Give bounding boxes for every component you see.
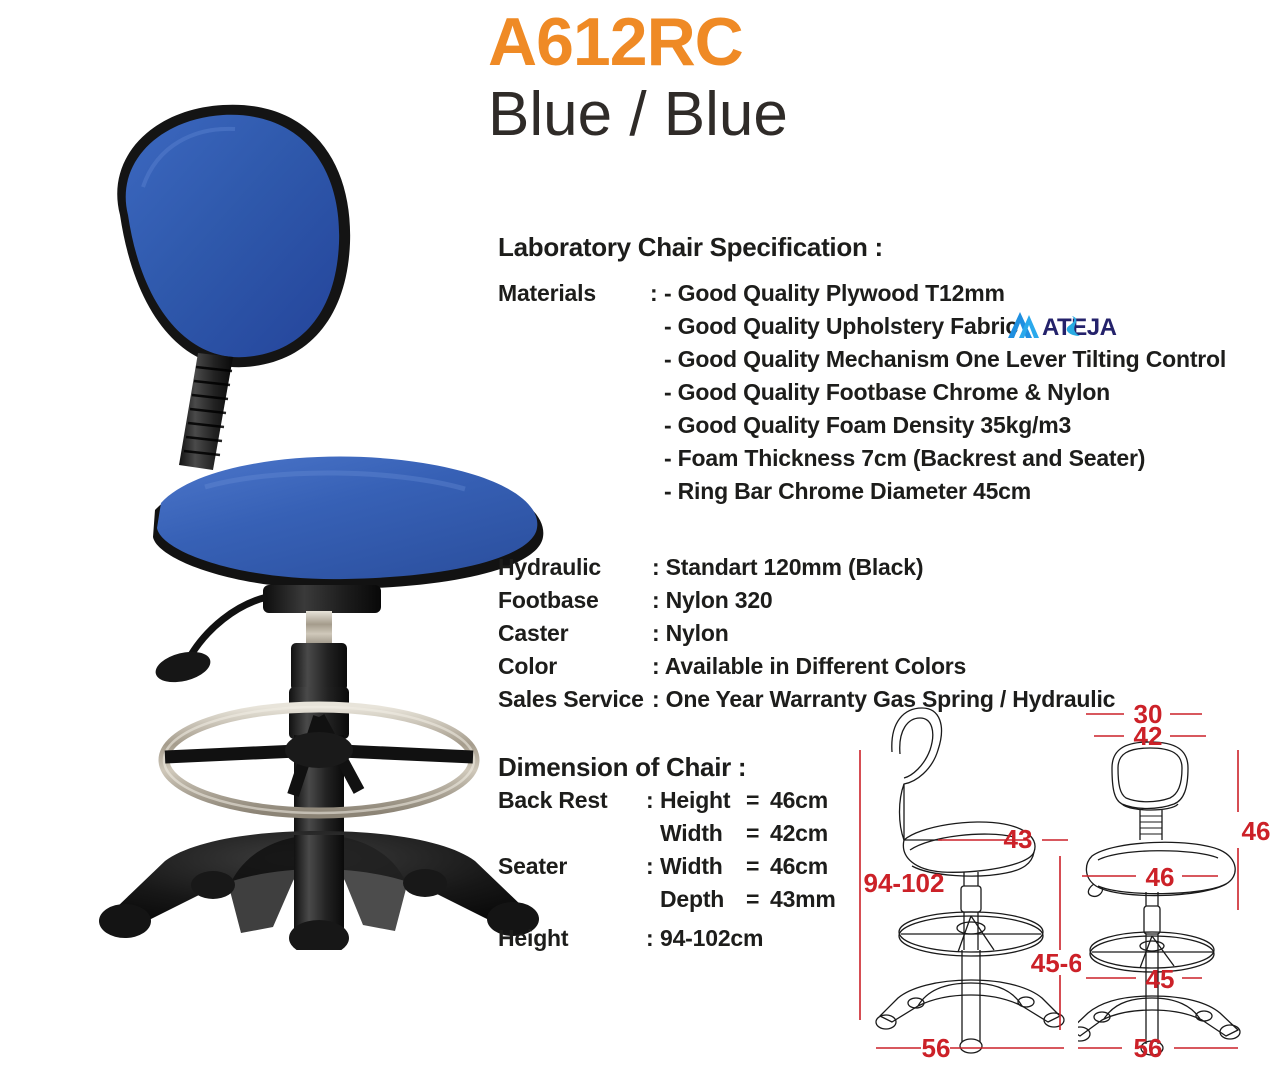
chair-photo [95, 95, 550, 950]
materials-colon: : [650, 280, 664, 307]
front-dim-backrest-width: 42 [1134, 721, 1163, 751]
material-item: - Good Quality Plywood T12mm [664, 280, 1005, 307]
side-dimension-lines [860, 750, 1068, 1048]
material-item: - Good Quality Foam Density 35kg/m3 [664, 412, 1071, 439]
chair-seat [153, 457, 543, 590]
detail-specs-section: Hydraulic: Standart 120mm (Black) Footba… [498, 551, 1115, 716]
detail-label-caster: Caster [498, 620, 652, 647]
dimension-row: Depth = 43mm [498, 883, 836, 916]
side-dim-base-width: 56 [922, 1033, 951, 1063]
front-dim-base-width: 56 [1134, 1033, 1163, 1063]
dim-value: 46cm [770, 853, 828, 880]
chair-base [99, 831, 539, 950]
dim-label: Back Rest [498, 787, 646, 814]
dim-key: Width [660, 820, 746, 847]
ateja-mark-icon [1008, 312, 1039, 338]
front-dim-seat-width: 46 [1146, 862, 1175, 892]
side-dim-seat-depth: 43 [1004, 824, 1033, 854]
detail-value-color: : Available in Different Colors [652, 653, 966, 680]
dimensions-heading: Dimension of Chair : [498, 751, 836, 784]
material-item: - Good Quality Footbase Chrome & Nylon [664, 379, 1110, 406]
material-item: - Good Quality Upholstery Fabric [664, 313, 1018, 340]
dim-value: 43mm [770, 886, 836, 913]
detail-label-footbase: Footbase [498, 587, 652, 614]
dimension-row: Seater : Width = 46cm [498, 850, 836, 883]
chair-backrest [117, 105, 350, 367]
technical-drawing-front-view: 30 42 46 46 45 56 [1078, 700, 1281, 1063]
title-block: A612RC Blue / Blue [488, 8, 1228, 147]
dimension-row: Width = 42cm [498, 817, 836, 850]
dimension-row: Back Rest : Height = 46cm [498, 784, 836, 817]
dim-colon: : [646, 787, 660, 814]
front-dim-backrest-height: 46 [1242, 816, 1271, 846]
dim-colon: : [646, 925, 660, 952]
detail-value-footbase: : Nylon 320 [652, 587, 773, 614]
product-color: Blue / Blue [488, 82, 1228, 147]
material-item: - Foam Thickness 7cm (Backrest and Seate… [664, 445, 1145, 472]
dim-key: Height [660, 787, 746, 814]
dim-value: 42cm [770, 820, 828, 847]
dimensions-section: Dimension of Chair : Back Rest : Height … [498, 751, 836, 955]
spec-heading: Laboratory Chair Specification : [498, 232, 1226, 263]
dim-label: Seater [498, 853, 646, 880]
dim-key: Width [660, 853, 746, 880]
dim-equals: = [746, 787, 770, 814]
technical-drawing-side-view: 43 94-102 45-65 56 [846, 700, 1081, 1063]
dim-value: 46cm [770, 787, 828, 814]
front-dim-ring-diameter: 45 [1146, 964, 1175, 994]
ateja-logo: ATEJA [1004, 306, 1124, 344]
dim-equals: = [746, 886, 770, 913]
ateja-wordmark: ATEJA [1042, 314, 1117, 341]
detail-label-sales-service: Sales Service [498, 686, 652, 713]
detail-label-color: Color [498, 653, 652, 680]
materials-label: Materials [498, 280, 650, 307]
backrest-stem [179, 353, 233, 470]
material-item: - Ring Bar Chrome Diameter 45cm [664, 478, 1031, 505]
dim-key: Depth [660, 886, 746, 913]
dim-equals: = [746, 853, 770, 880]
product-code: A612RC [488, 8, 1228, 76]
detail-label-hydraulic: Hydraulic [498, 554, 652, 581]
detail-value-hydraulic: : Standart 120mm (Black) [652, 554, 923, 581]
side-dim-seat-height-range: 45-65 [1031, 948, 1081, 978]
dim-label: Height [498, 925, 646, 952]
dimension-row: Height : 94-102cm [498, 922, 836, 955]
material-item: - Good Quality Mechanism One Lever Tilti… [664, 346, 1226, 373]
dim-value: 94-102cm [660, 925, 763, 952]
side-dim-total-height: 94-102 [864, 868, 945, 898]
dim-colon: : [646, 853, 660, 880]
materials-section: Laboratory Chair Specification : Materia… [498, 232, 1226, 508]
detail-value-caster: : Nylon [652, 620, 729, 647]
dim-equals: = [746, 820, 770, 847]
